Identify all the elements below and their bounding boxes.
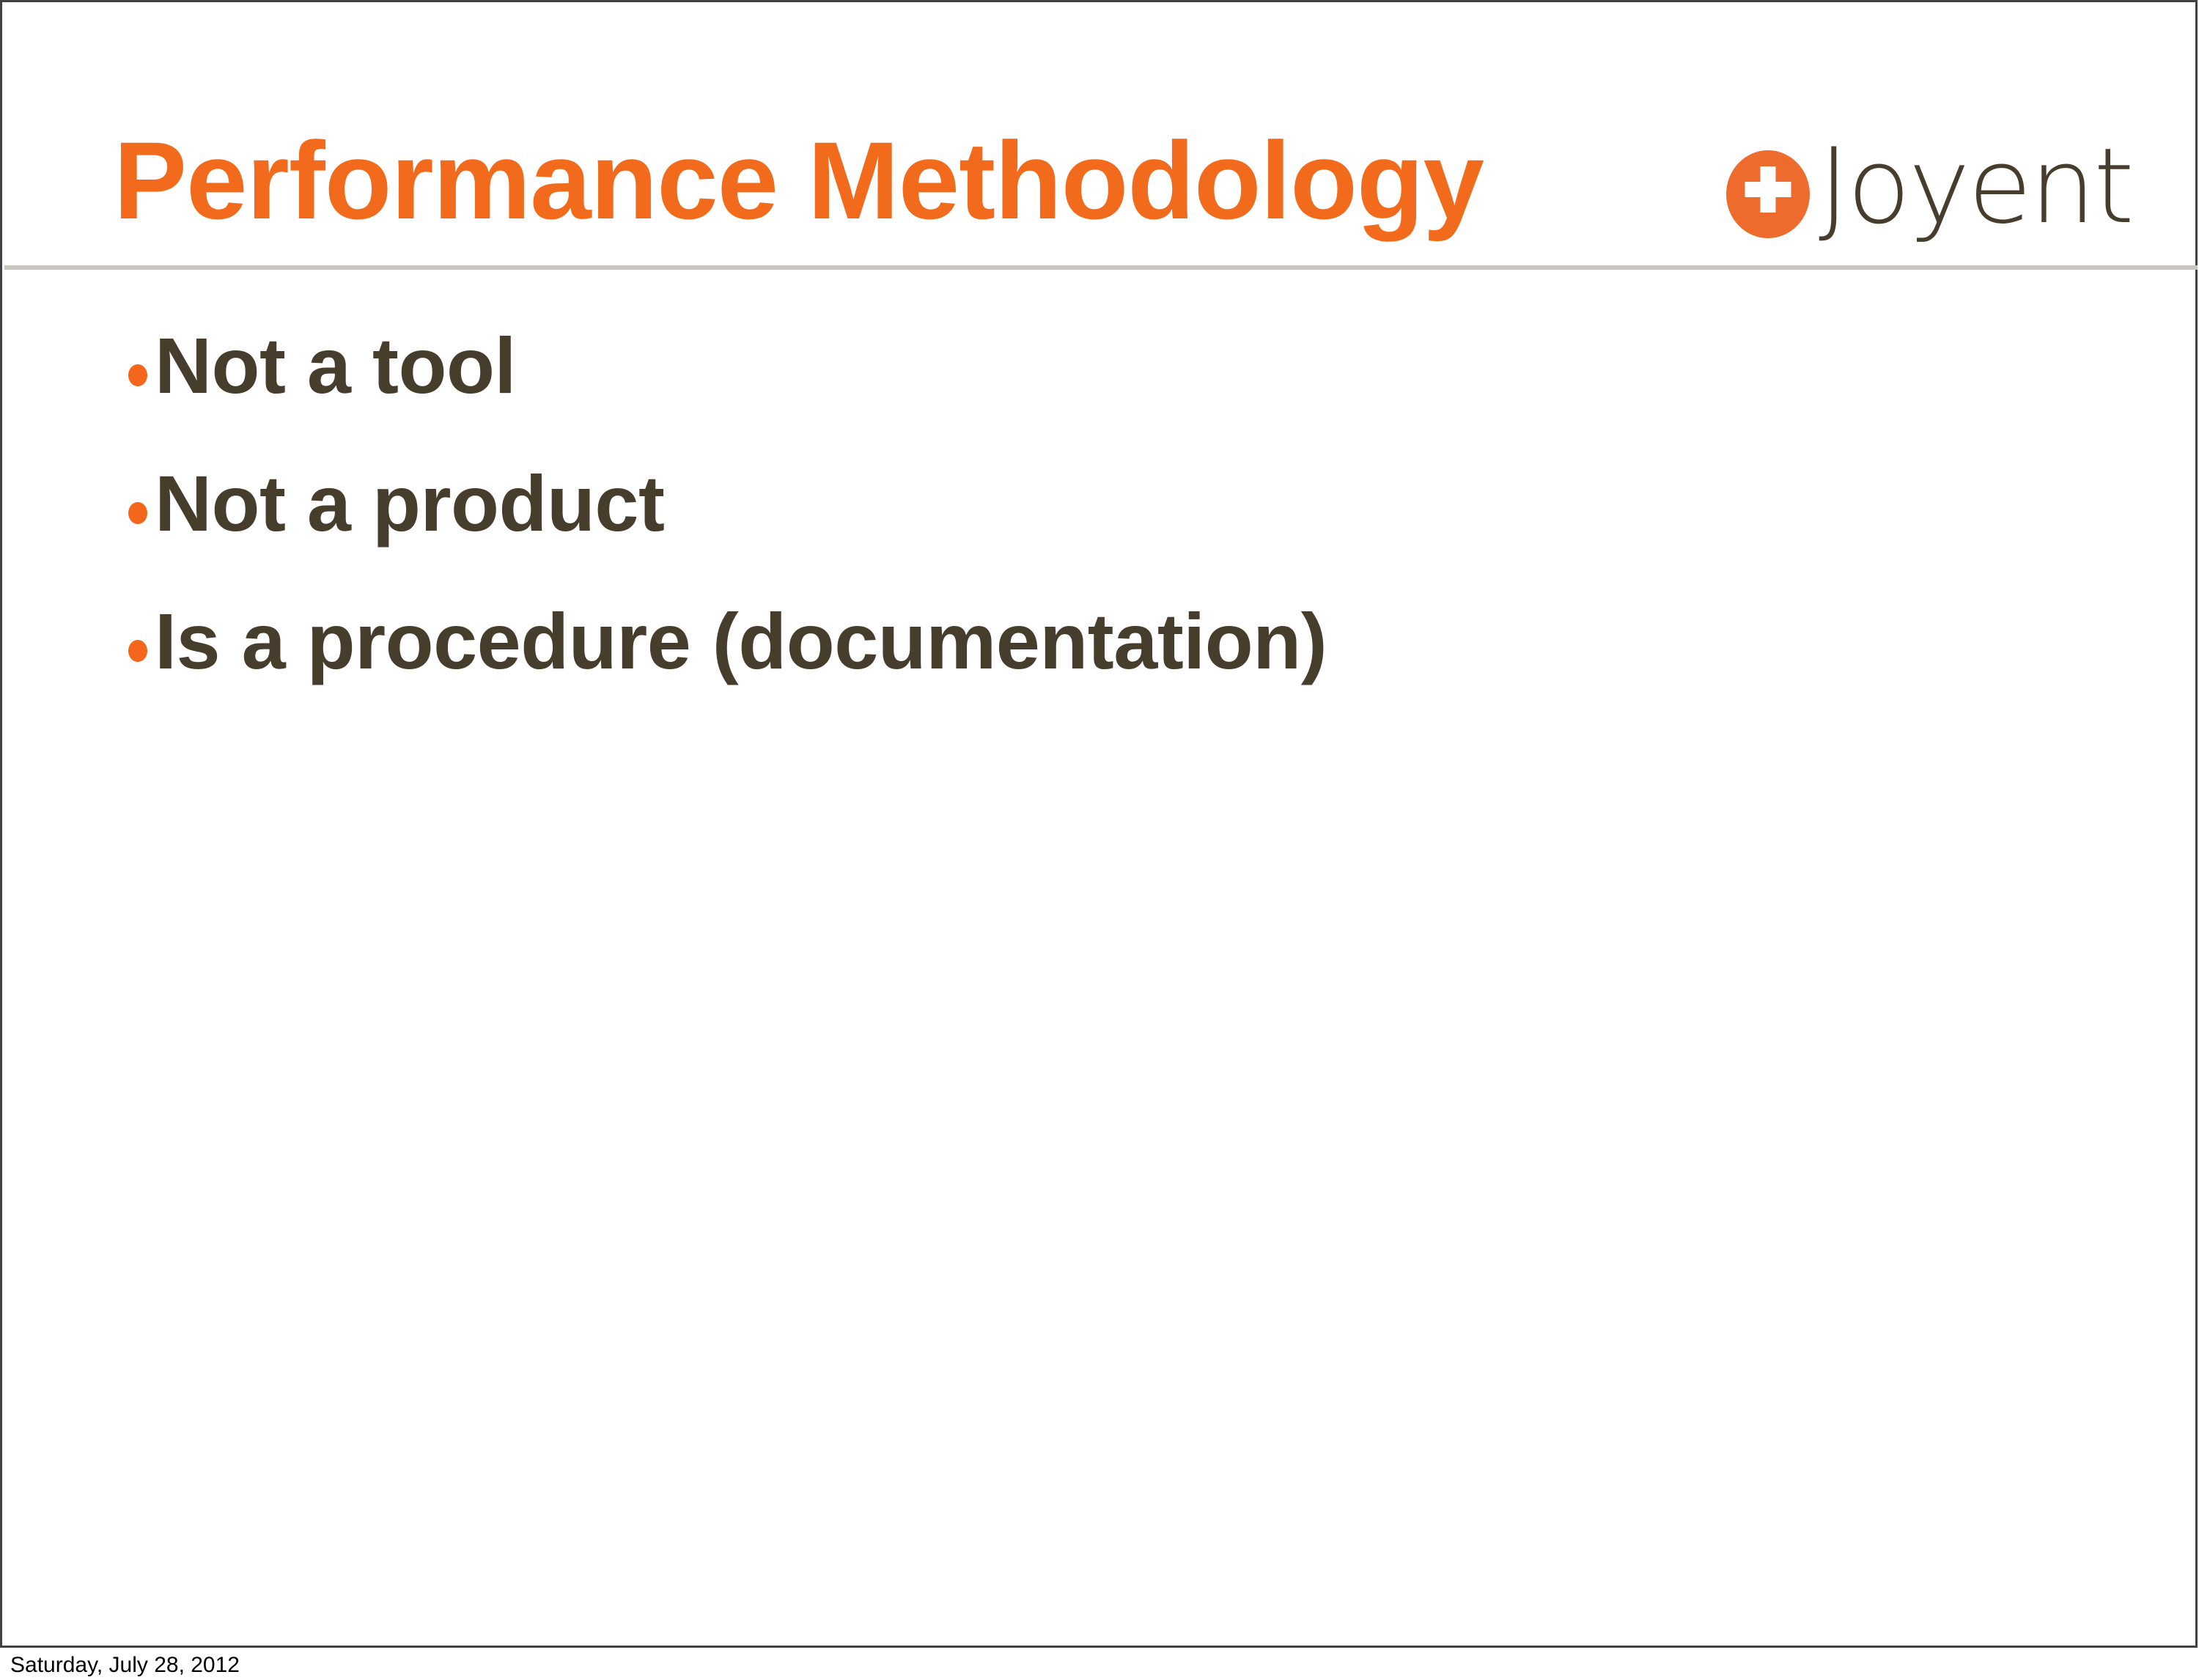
bullet-label: Not a tool bbox=[155, 317, 516, 414]
bullet-list: Not a tool Not a product Is a procedure … bbox=[2, 317, 2195, 731]
header-divider bbox=[4, 265, 2198, 270]
slide-header: Performance Methodology Joyent bbox=[2, 2, 2195, 268]
bullet-dot-icon bbox=[128, 364, 147, 386]
slide-canvas: Performance Methodology Joyent Not a too… bbox=[0, 0, 2198, 1648]
bullet-dot-icon bbox=[128, 640, 147, 662]
footer-date: Saturday, July 28, 2012 bbox=[10, 1652, 240, 1679]
joyent-plus-in-circle-icon bbox=[1726, 150, 1810, 238]
svg-text:Joyent: Joyent bbox=[1819, 136, 2132, 247]
bullet-label: Is a procedure (documentation) bbox=[155, 593, 1327, 690]
page-title: Performance Methodology bbox=[114, 125, 1484, 235]
joyent-logo: Joyent bbox=[1726, 146, 2166, 248]
bullet-label: Not a product bbox=[155, 455, 664, 552]
list-item: Not a product bbox=[2, 455, 2195, 593]
slide-footer: Saturday, July 28, 2012 bbox=[0, 1651, 2199, 1680]
list-item: Is a procedure (documentation) bbox=[2, 593, 2195, 731]
joyent-wordmark: Joyent bbox=[1819, 136, 2163, 253]
bullet-dot-icon bbox=[128, 502, 147, 524]
list-item: Not a tool bbox=[2, 317, 2195, 455]
